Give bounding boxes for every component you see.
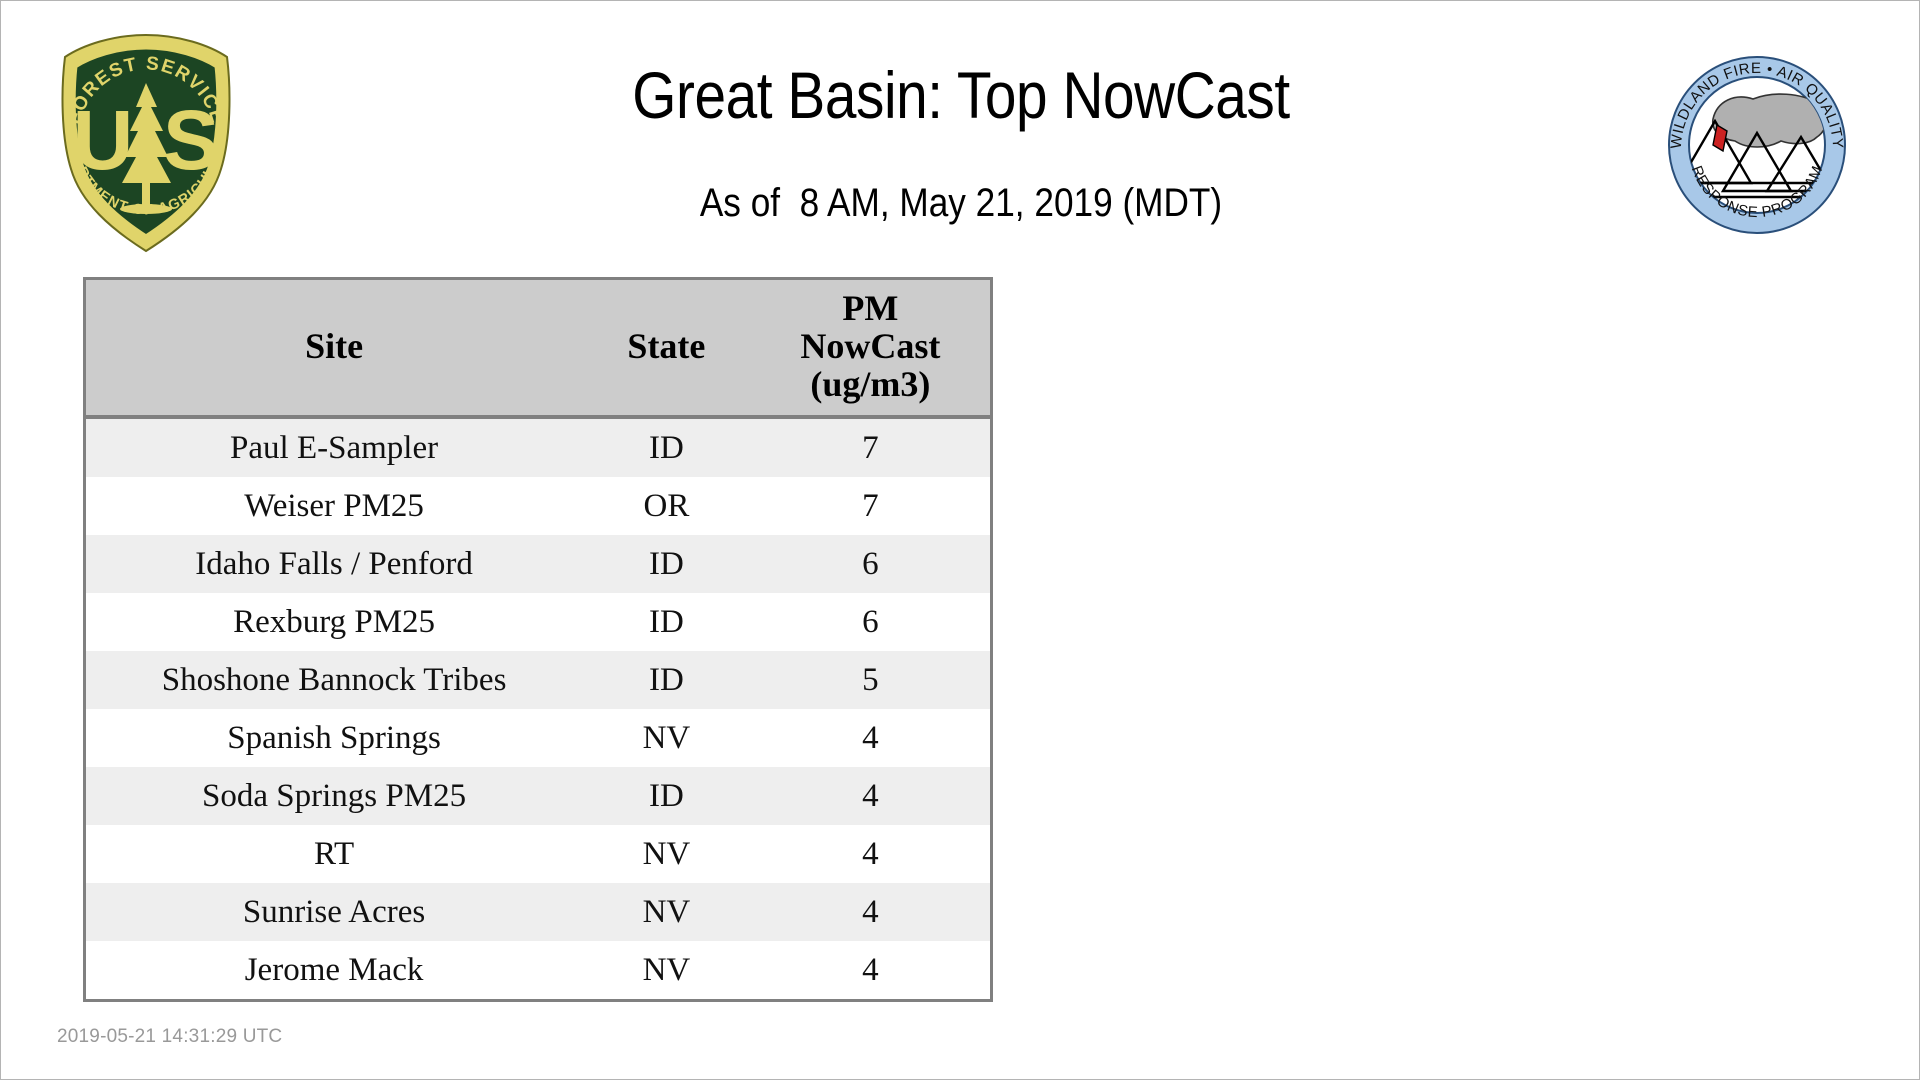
table-header-row: Site State PM NowCast (ug/m3)	[85, 279, 992, 418]
cell-state: ID	[582, 417, 751, 477]
cell-state: ID	[582, 593, 751, 651]
table-row[interactable]: Soda Springs PM25ID4	[85, 767, 992, 825]
cell-state: NV	[582, 709, 751, 767]
page-title: Great Basin: Top NowCast	[135, 57, 1786, 133]
column-header-site[interactable]: Site	[85, 279, 583, 418]
table-row[interactable]: Idaho Falls / PenfordID6	[85, 535, 992, 593]
pm-header-line-1: PM	[842, 288, 898, 328]
table-row[interactable]: Paul E-SamplerID7	[85, 417, 992, 477]
cell-site: Paul E-Sampler	[85, 417, 583, 477]
cell-state: NV	[582, 941, 751, 1001]
table-header: Site State PM NowCast (ug/m3)	[85, 279, 992, 418]
cell-pm-nowcast: 4	[751, 825, 992, 883]
cell-pm-nowcast: 7	[751, 417, 992, 477]
cell-state: ID	[582, 767, 751, 825]
nowcast-table-container: Site State PM NowCast (ug/m3) Paul E-Sam…	[83, 277, 993, 1002]
cell-pm-nowcast: 4	[751, 941, 992, 1001]
table-row[interactable]: Shoshone Bannock TribesID5	[85, 651, 992, 709]
cell-state: OR	[582, 477, 751, 535]
cell-pm-nowcast: 6	[751, 593, 992, 651]
table-row[interactable]: Weiser PM25OR7	[85, 477, 992, 535]
pm-header-line-3: (ug/m3)	[810, 364, 930, 404]
cell-site: Idaho Falls / Penford	[85, 535, 583, 593]
nowcast-table: Site State PM NowCast (ug/m3) Paul E-Sam…	[83, 277, 993, 1002]
cell-site: Weiser PM25	[85, 477, 583, 535]
cell-site: Spanish Springs	[85, 709, 583, 767]
page-subtitle: As of 8 AM, May 21, 2019 (MDT)	[116, 181, 1806, 226]
cell-state: NV	[582, 825, 751, 883]
cell-state: NV	[582, 883, 751, 941]
cell-pm-nowcast: 4	[751, 767, 992, 825]
table-row[interactable]: RTNV4	[85, 825, 992, 883]
table-row[interactable]: Sunrise AcresNV4	[85, 883, 992, 941]
column-header-pm-nowcast[interactable]: PM NowCast (ug/m3)	[751, 279, 992, 418]
cell-site: Soda Springs PM25	[85, 767, 583, 825]
cell-state: ID	[582, 651, 751, 709]
cell-site: RT	[85, 825, 583, 883]
table-row[interactable]: Spanish SpringsNV4	[85, 709, 992, 767]
cell-state: ID	[582, 535, 751, 593]
cell-site: Sunrise Acres	[85, 883, 583, 941]
table-row[interactable]: Rexburg PM25ID6	[85, 593, 992, 651]
cell-site: Jerome Mack	[85, 941, 583, 1001]
cell-pm-nowcast: 4	[751, 709, 992, 767]
pm-header-line-2: NowCast	[800, 326, 940, 366]
column-header-state[interactable]: State	[582, 279, 751, 418]
table-row[interactable]: Jerome MackNV4	[85, 941, 992, 1001]
cell-pm-nowcast: 4	[751, 883, 992, 941]
cell-pm-nowcast: 6	[751, 535, 992, 593]
cell-pm-nowcast: 5	[751, 651, 992, 709]
footer-timestamp: 2019-05-21 14:31:29 UTC	[57, 1026, 282, 1048]
table-body: Paul E-SamplerID7Weiser PM25OR7Idaho Fal…	[85, 417, 992, 1001]
cell-site: Shoshone Bannock Tribes	[85, 651, 583, 709]
cell-pm-nowcast: 7	[751, 477, 992, 535]
cell-site: Rexburg PM25	[85, 593, 583, 651]
nowcast-report-page: FOREST SERVICE U S DEPARTMENT OF AGRICUL…	[0, 0, 1920, 1080]
